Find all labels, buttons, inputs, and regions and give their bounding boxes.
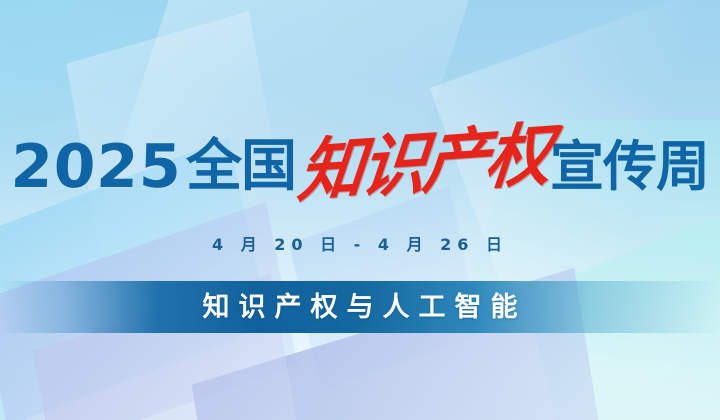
date-range-text: 4 月 20 日 - 4 月 26 日	[0, 231, 720, 255]
headline-row: 2025 全国 知识产权 宣传周	[0, 126, 720, 208]
ip-week-promo-banner: 2025 全国 知识产权 宣传周 4 月 20 日 - 4 月 26 日 知识产…	[0, 0, 720, 420]
headline-nationwide: 全国	[186, 139, 296, 195]
headline-calligraphy-ip: 知识产权	[295, 120, 552, 206]
theme-band-text: 知识产权与人工智能	[194, 294, 527, 321]
headline-publicity-week: 宣传周	[550, 140, 709, 194]
theme-band: 知识产权与人工智能	[0, 281, 720, 333]
headline-year: 2025	[10, 137, 183, 197]
